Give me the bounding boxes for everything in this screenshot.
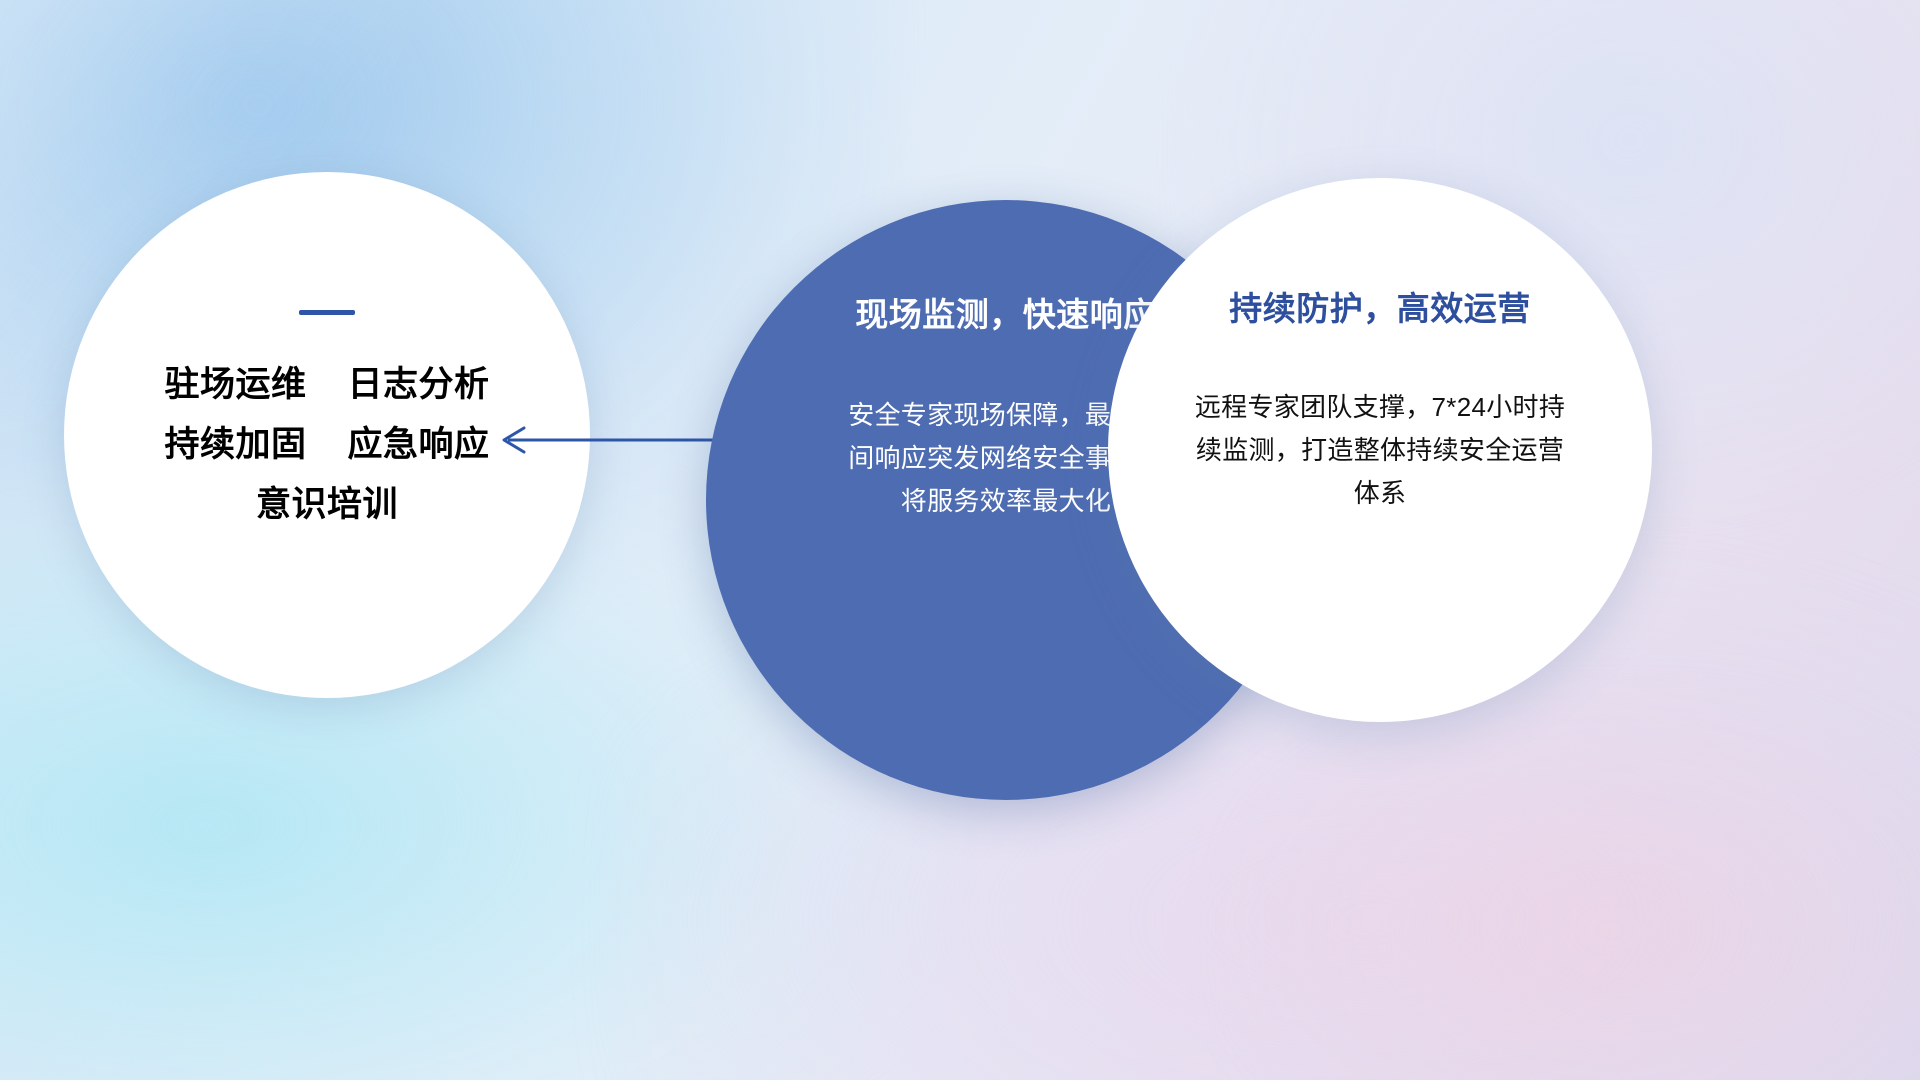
slide-canvas: 驻场运维 日志分析 持续加固 应急响应 意识培训 现场监测，快速响应 安全专家现… [0, 0, 1920, 1080]
right-circle-title: 持续防护，高效运营 [1229, 282, 1531, 330]
arrow-icon [480, 412, 720, 468]
right-circle-body: 远程专家团队支撑，7*24小时持续监测，打造整体持续安全运营体系 [1190, 386, 1570, 515]
left-circle-line-1: 驻场运维 日志分析 [64, 355, 590, 415]
accent-dash-icon [299, 310, 355, 315]
connector-arrow [480, 412, 720, 468]
right-operations-circle[interactable]: 持续防护，高效运营 远程专家团队支撑，7*24小时持续监测，打造整体持续安全运营… [1108, 178, 1652, 722]
middle-circle-title: 现场监测，快速响应 [855, 288, 1157, 336]
background-glow-bottom-right [1230, 690, 1920, 1080]
left-circle-line-3: 意识培训 [64, 475, 590, 535]
